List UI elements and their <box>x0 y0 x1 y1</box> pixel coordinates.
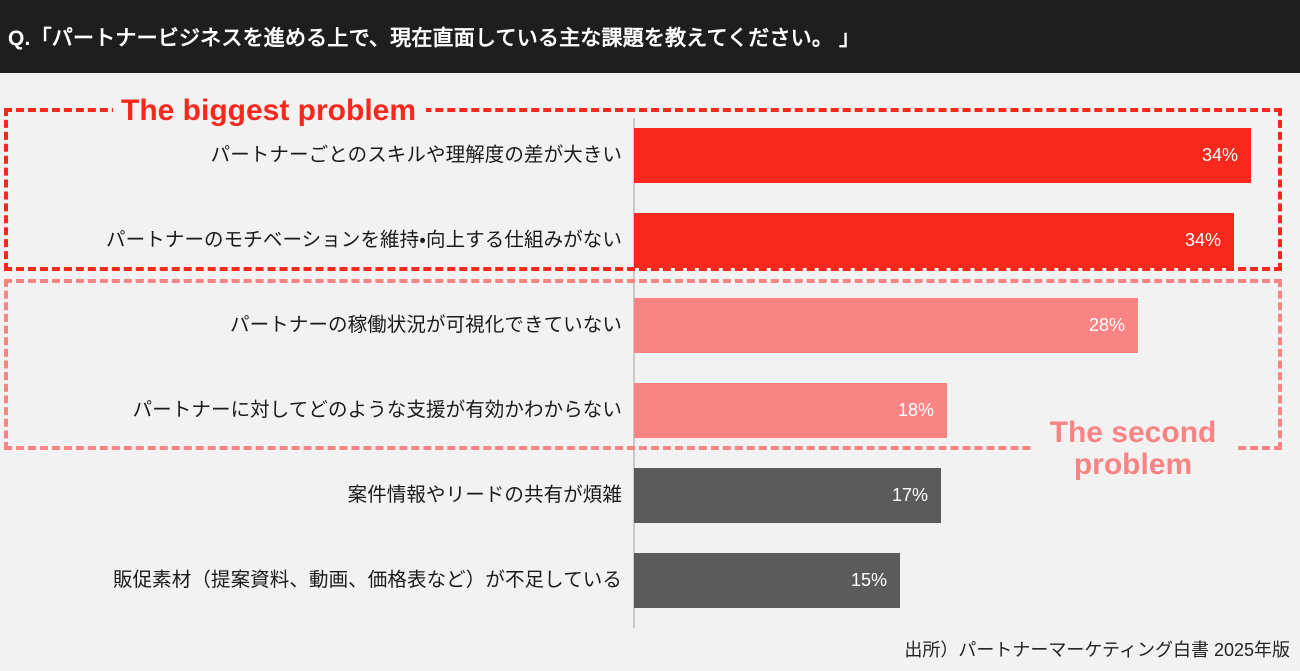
bar-fill[interactable]: 17% <box>634 468 941 523</box>
bar-row: パートナーの稼働状況が可視化できていない 28% <box>0 298 1300 353</box>
bar-category-label: パートナーごとのスキルや理解度の差が大きい <box>211 128 622 183</box>
source-note: 出所）パートナーマーケティング白書 2025年版 <box>904 636 1290 662</box>
bar-category-label: 案件情報やリードの共有が煩雑 <box>348 468 622 523</box>
bar-row: 案件情報やリードの共有が煩雑 17% <box>0 468 1300 523</box>
bar-fill[interactable]: 15% <box>634 553 900 608</box>
bar-value-label: 17% <box>892 468 928 523</box>
annotation-label-biggest-problem: The biggest problem <box>113 93 426 129</box>
bar-track: 28% <box>634 298 1138 353</box>
bar-track: 34% <box>634 128 1251 183</box>
bar-fill[interactable]: 34% <box>634 128 1251 183</box>
bar-fill[interactable]: 18% <box>634 383 947 438</box>
bar-category-label: 販促素材（提案資料、動画、価格表など）が不足している <box>113 553 622 608</box>
bar-value-label: 18% <box>898 383 934 438</box>
bar-row: 販促素材（提案資料、動画、価格表など）が不足している 15% <box>0 553 1300 608</box>
bar-value-label: 34% <box>1202 128 1238 183</box>
bar-value-label: 34% <box>1185 213 1221 268</box>
bar-category-label: パートナーの稼働状況が可視化できていない <box>230 298 622 353</box>
bar-row: パートナーに対してどのような支援が有効かわからない 18% <box>0 383 1300 438</box>
bar-value-label: 28% <box>1089 298 1125 353</box>
bar-track: 18% <box>634 383 947 438</box>
value-axis-line <box>633 118 635 628</box>
bar-track: 15% <box>634 553 900 608</box>
bar-value-label: 15% <box>851 553 887 608</box>
bar-fill[interactable]: 28% <box>634 298 1138 353</box>
bar-category-label: パートナーのモチベーションを維持・向上する仕組みがない <box>106 213 622 268</box>
bar-row: パートナーごとのスキルや理解度の差が大きい 34% <box>0 128 1300 183</box>
question-header-band: Q.「パートナービジネスを進める上で、現在直面している主な課題を教えてください。… <box>0 0 1300 73</box>
bar-track: 17% <box>634 468 941 523</box>
bar-fill[interactable]: 34% <box>634 213 1234 268</box>
bar-chart: The biggest problem The second problem パ… <box>0 73 1300 671</box>
bar-row: パートナーのモチベーションを維持・向上する仕組みがない 34% <box>0 213 1300 268</box>
page-title: Q.「パートナービジネスを進める上で、現在直面している主な課題を教えてください。… <box>8 28 860 49</box>
bar-category-label: パートナーに対してどのような支援が有効かわからない <box>133 383 622 438</box>
bar-track: 34% <box>634 213 1234 268</box>
